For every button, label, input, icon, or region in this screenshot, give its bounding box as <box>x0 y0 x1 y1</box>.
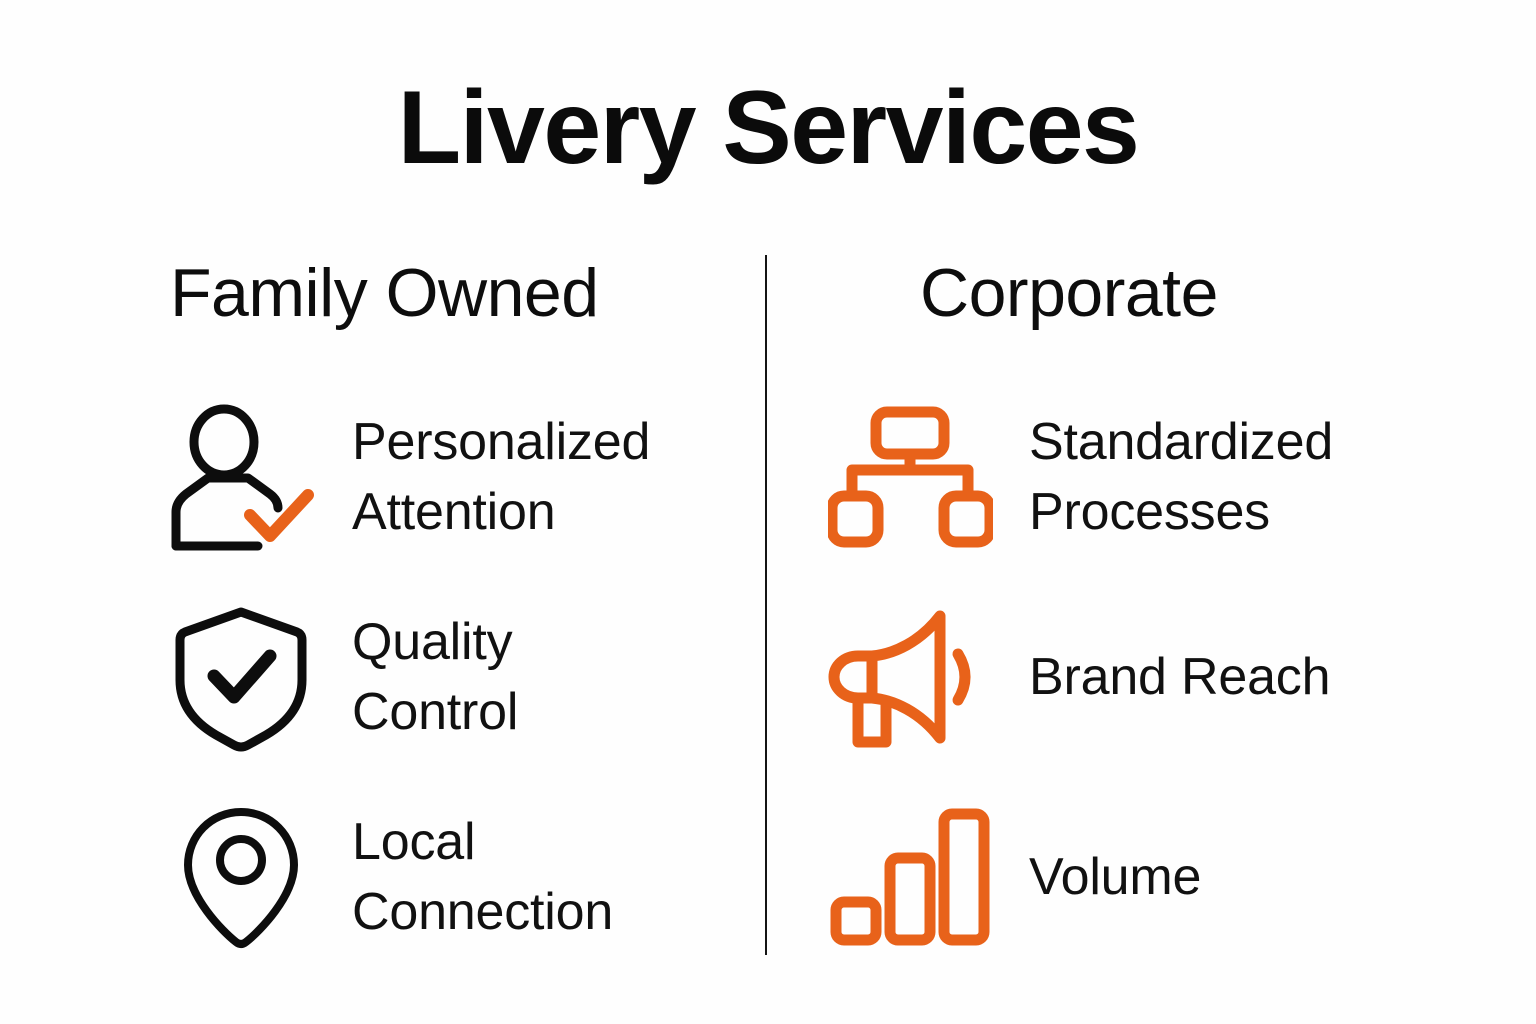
feature-item[interactable]: Local Connection <box>120 777 760 977</box>
feature-item[interactable]: Personalized Attention <box>120 377 760 577</box>
feature-item[interactable]: Volume <box>790 777 1490 977</box>
shield-check-icon <box>166 602 316 752</box>
column-heading-corporate: Corporate <box>790 258 1490 329</box>
feature-label: Standardized Processes <box>1029 407 1333 548</box>
column-corporate: Corporate Standardized Processes <box>790 258 1490 977</box>
column-family-owned: Family Owned Personalized Attention <box>120 258 760 977</box>
column-heading-family-owned: Family Owned <box>120 258 760 329</box>
infographic-canvas: Livery Services Family Owned Personalize… <box>0 0 1536 1024</box>
feature-label: Quality Control <box>352 607 518 748</box>
megaphone-icon <box>828 602 993 752</box>
page-title: Livery Services <box>0 72 1536 184</box>
column-divider <box>765 255 767 955</box>
feature-item[interactable]: Brand Reach <box>790 577 1490 777</box>
feature-item[interactable]: Standardized Processes <box>790 377 1490 577</box>
feature-label: Personalized Attention <box>352 407 650 548</box>
feature-item[interactable]: Quality Control <box>120 577 760 777</box>
feature-list-corporate: Standardized Processes Brand Reach <box>790 377 1490 977</box>
feature-label: Brand Reach <box>1029 642 1330 713</box>
org-chart-icon <box>828 402 993 552</box>
feature-list-family-owned: Personalized Attention Quality Control <box>120 377 760 977</box>
person-check-icon <box>166 402 316 552</box>
map-pin-icon <box>166 802 316 952</box>
bar-chart-icon <box>828 802 993 952</box>
feature-label: Volume <box>1029 842 1201 913</box>
feature-label: Local Connection <box>352 807 613 948</box>
